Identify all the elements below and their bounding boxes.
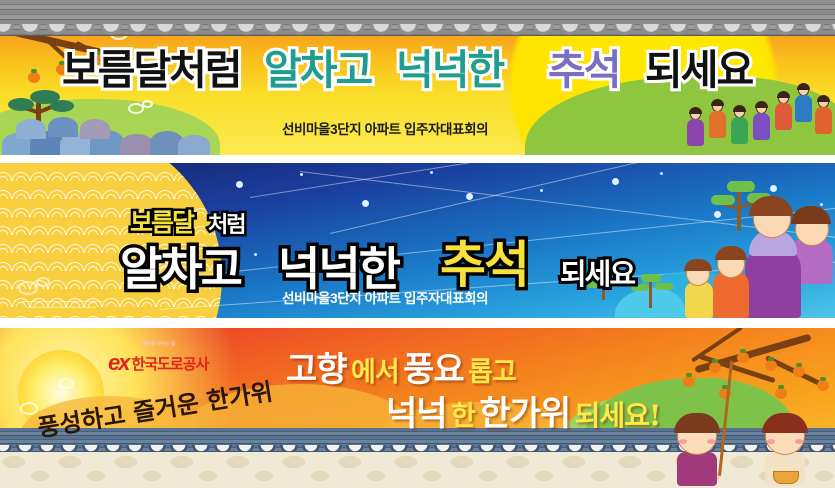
line2-seg1: 넉넉 [386,394,447,434]
headline-word-6: 되세요 [560,251,634,293]
fruit-basket-icon [773,471,799,484]
child-girl-illustration [765,417,811,486]
headline-word-2: 알차고 [264,48,371,92]
banner-blue-night-chuseok[interactable]: 보름달 처럼 알차고 넉넉한 추석 되세요 선비마을3단지 아파트 입주자대표회… [0,163,835,318]
line1-seg2: 에서 [351,357,399,388]
banner-collection: 보름달처럼 알차고 넉넉한 추석 되세요 선비마을3단지 아파트 입주자대표회의 [0,0,835,488]
banner-gap-1 [0,155,835,163]
headline-word-3: 알차고 [120,233,241,299]
headline-word-1: 보름달처럼 [62,48,241,92]
banner-gap-2 [0,318,835,328]
line1-seg1: 고향 [286,350,347,390]
line1-seg3: 풍요 [403,350,464,390]
headline-word-4: 추석 [548,48,619,92]
child-boy-illustration [677,417,723,486]
line2-seg2: 한 [451,401,475,432]
line2-seg4: 되세요! [575,399,661,432]
banner1-subtitle: 선비마을3단지 아파트 입주자대표회의 [282,118,488,138]
line2-seg3: 한가위 [479,394,570,434]
banner-orange-hangawi[interactable]: 행복을 나누는 길 ex 한국도로공사 풍성하고 즐거운 한가위 고향 에서 풍… [0,328,835,488]
banner2-subtitle: 선비마을3단지 아파트 입주자대표회의 [282,287,488,307]
headline-word-5: 되세요 [645,48,752,92]
line1-seg4: 롭고 [468,357,516,388]
banner-orange-chuseok[interactable]: 보름달처럼 알차고 넉넉한 추석 되세요 선비마을3단지 아파트 입주자대표회의 [0,0,835,155]
headline-word-3: 넉넉한 [396,48,503,92]
